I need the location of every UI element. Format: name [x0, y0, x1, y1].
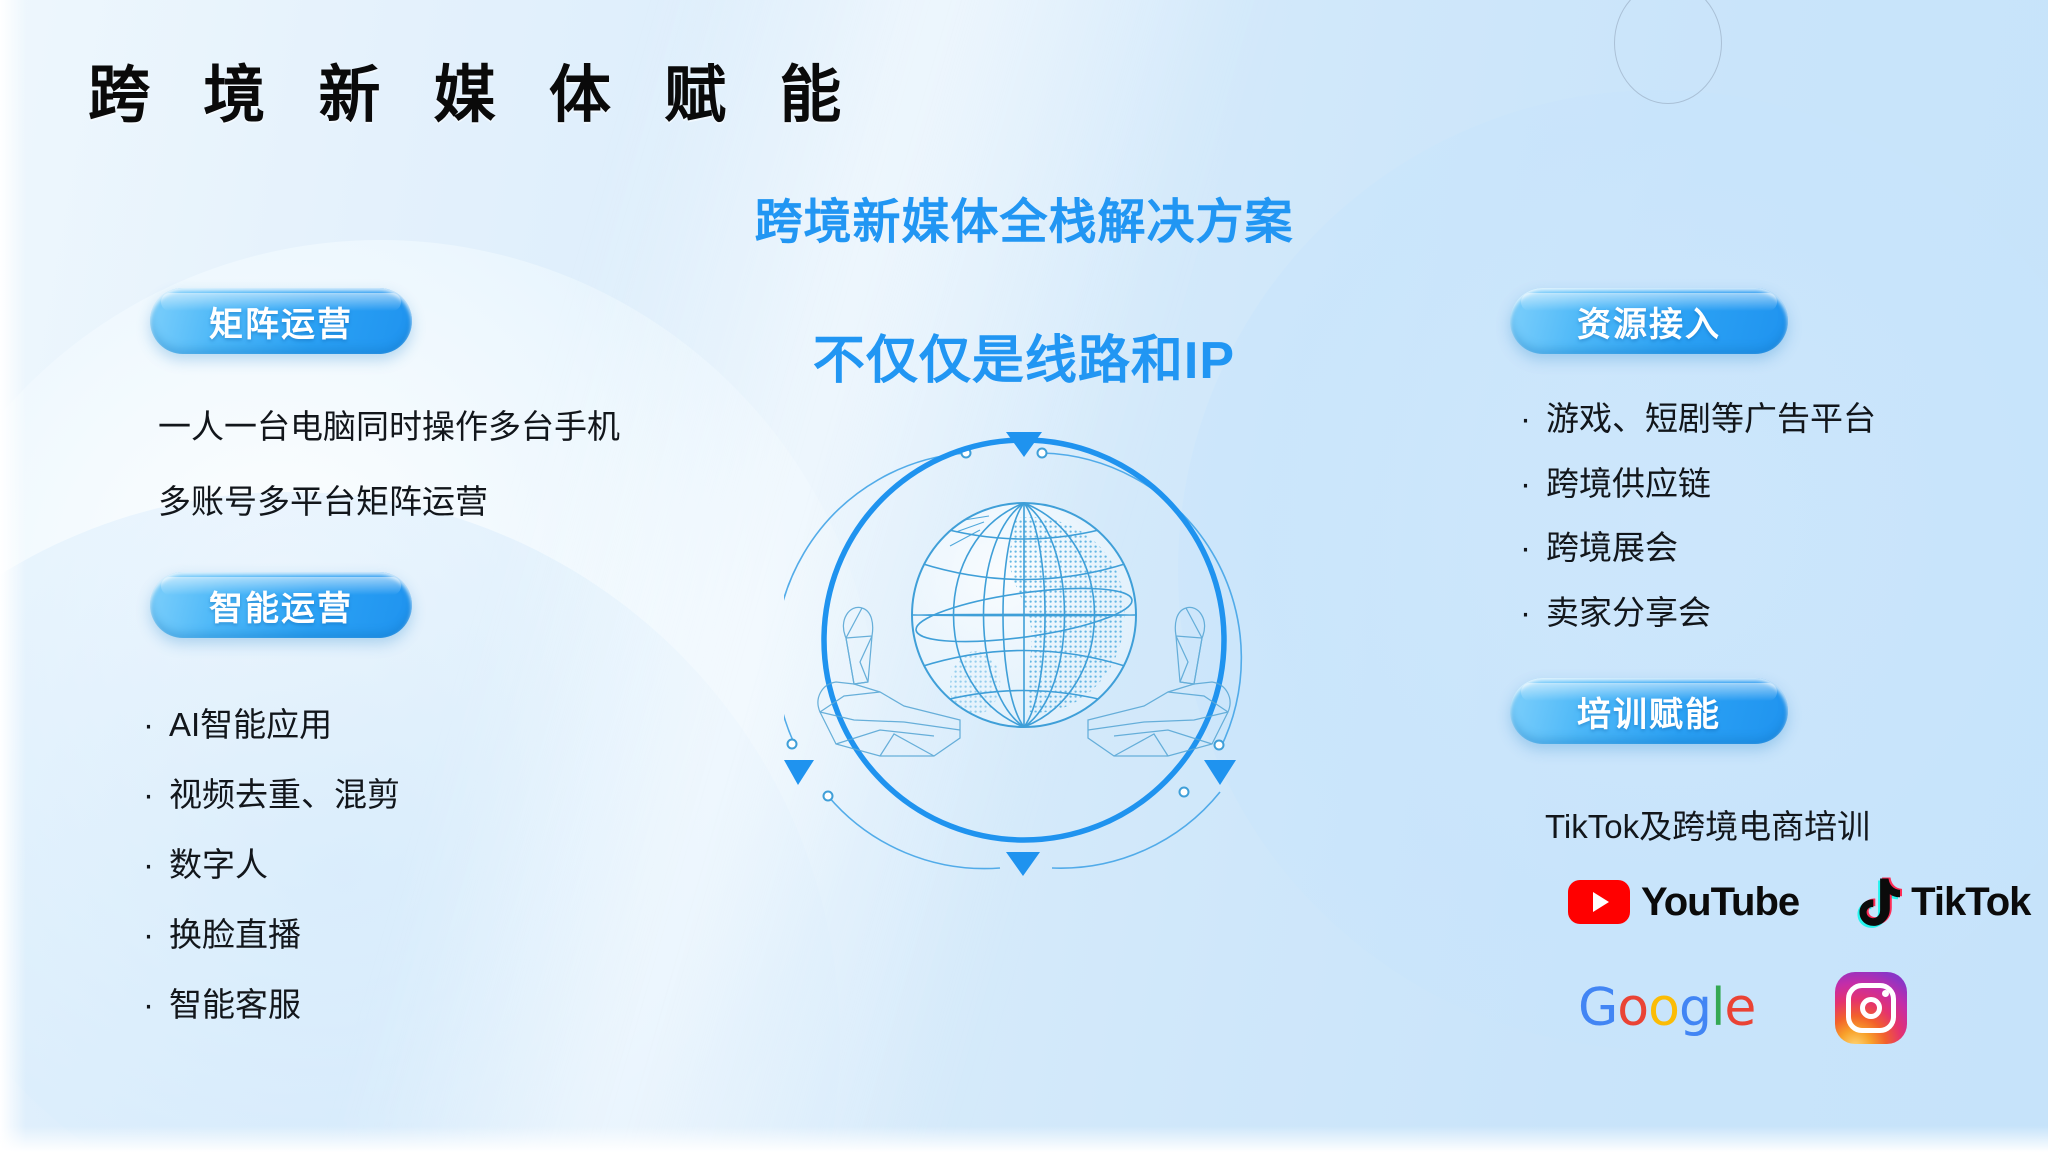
tiktok-logo[interactable]: TikTok [1857, 876, 2030, 928]
pill-resource-access-label: 资源接入 [1577, 297, 1721, 346]
list-item-label: 游戏、短剧等广告平台 [1546, 392, 1876, 440]
list-item-label: 卖家分享会 [1546, 586, 1711, 634]
list-item: · 游戏、短剧等广告平台 [1520, 392, 1876, 440]
right-line-1: TikTok及跨境电商培训 [1545, 800, 1870, 848]
logo-row-top: YouTube TikTok [1568, 876, 2030, 928]
page-title: 跨 境 新 媒 体 赋 能 [88, 44, 859, 134]
pill-training-empowerment-label: 培训赋能 [1577, 687, 1721, 736]
bullet-dot-icon: · [143, 706, 169, 744]
bullet-dot-icon: · [143, 986, 169, 1024]
list-item: · 视频去重、混剪 [143, 768, 400, 816]
slide-edge-highlight-bottom [0, 1126, 2048, 1152]
left-line-2: 多账号多平台矩阵运营 [158, 475, 488, 523]
slide-canvas: 跨 境 新 媒 体 赋 能 跨境新媒体全栈解决方案 不仅仅是线路和IP [0, 0, 2048, 1152]
logo-row-bottom: Google [1578, 972, 1907, 1044]
bullet-dot-icon: · [1520, 465, 1546, 503]
list-item-label: 跨境展会 [1546, 521, 1678, 569]
google-letter-g2: g [1679, 978, 1711, 1038]
list-item: · 换脸直播 [143, 908, 301, 956]
pill-training-empowerment[interactable]: 培训赋能 [1510, 678, 1788, 744]
bullet-dot-icon: · [1520, 594, 1546, 632]
bullet-dot-icon: · [143, 916, 169, 954]
pill-smart-operations[interactable]: 智能运营 [150, 572, 412, 638]
tiktok-note-icon [1857, 876, 1903, 928]
list-item: · 跨境展会 [1520, 521, 1678, 569]
globe-svg [784, 400, 1264, 880]
bullet-dot-icon: · [1520, 400, 1546, 438]
google-letter-o1: o [1617, 978, 1648, 1038]
list-item: · 数字人 [143, 838, 268, 886]
google-letter-e: e [1724, 978, 1755, 1038]
decorative-circle-outline [1614, 0, 1722, 104]
list-item-label: 数字人 [169, 838, 268, 886]
list-item: · 智能客服 [143, 978, 301, 1026]
list-item-label: 跨境供应链 [1546, 457, 1711, 505]
google-logo[interactable]: Google [1578, 982, 1755, 1034]
globe-in-hands-illustration [784, 400, 1264, 880]
list-item-label: 智能客服 [169, 978, 301, 1026]
bullet-dot-icon: · [143, 776, 169, 814]
google-letter-g1: G [1578, 978, 1617, 1038]
bullet-dot-icon: · [1520, 529, 1546, 567]
bullet-dot-icon: · [143, 846, 169, 884]
list-item-label: 换脸直播 [169, 908, 301, 956]
list-item-label: AI智能应用 [169, 698, 332, 746]
instagram-logo[interactable] [1835, 972, 1907, 1044]
instagram-lens-icon [1860, 997, 1882, 1019]
left-line-1: 一人一台电脑同时操作多台手机 [158, 400, 620, 448]
pill-matrix-operations[interactable]: 矩阵运营 [150, 288, 412, 354]
tiktok-logo-label: TikTok [1911, 880, 2030, 925]
pill-matrix-operations-label: 矩阵运营 [209, 297, 353, 346]
instagram-camera-icon [1846, 983, 1896, 1033]
pill-resource-access[interactable]: 资源接入 [1510, 288, 1788, 354]
list-item: · 跨境供应链 [1520, 457, 1711, 505]
youtube-play-icon [1568, 880, 1630, 924]
youtube-logo-label: YouTube [1641, 880, 1799, 925]
slide-edge-highlight-left [0, 0, 26, 1152]
list-item-label: 视频去重、混剪 [169, 768, 400, 816]
instagram-dot-icon [1882, 990, 1889, 997]
google-letter-l: l [1711, 978, 1724, 1038]
list-item: · 卖家分享会 [1520, 586, 1711, 634]
youtube-logo[interactable]: YouTube [1568, 880, 1799, 925]
headline-primary: 跨境新媒体全栈解决方案 [0, 182, 2048, 252]
list-item: · AI智能应用 [143, 698, 332, 746]
pill-smart-operations-label: 智能运营 [209, 581, 353, 630]
google-letter-o2: o [1648, 978, 1679, 1038]
